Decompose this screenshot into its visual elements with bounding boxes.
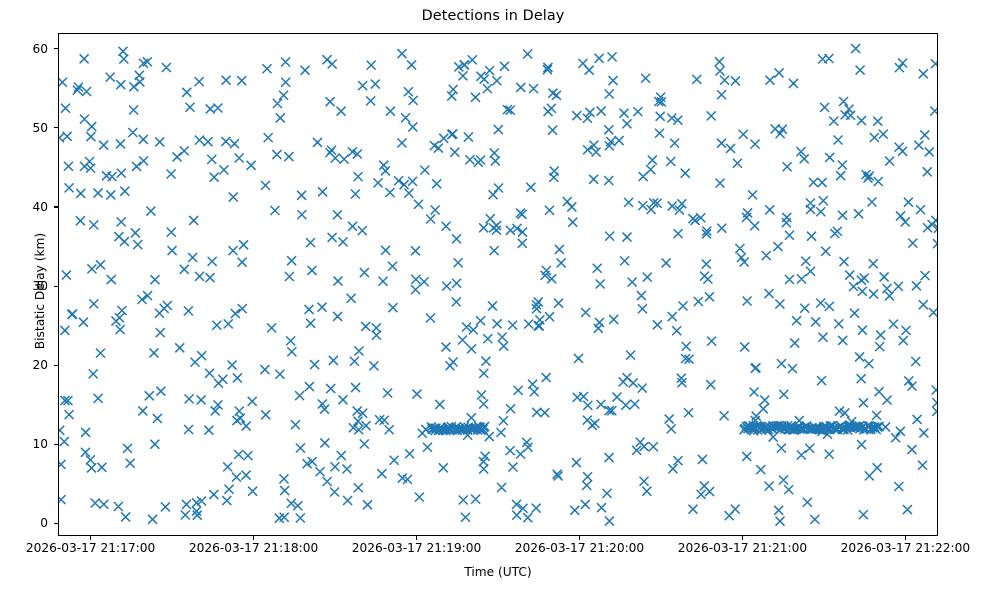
scatter-marker-group xyxy=(59,44,938,526)
y-tick-label: 0 xyxy=(0,516,48,530)
x-tick-label: 2026-03-17 21:18:00 xyxy=(189,541,318,555)
x-axis-label: Time (UTC) xyxy=(58,565,938,579)
y-tick-mark xyxy=(54,127,58,128)
x-tick-label: 2026-03-17 21:19:00 xyxy=(352,541,481,555)
x-tick-mark xyxy=(905,536,906,540)
y-tick-mark xyxy=(54,444,58,445)
y-tick-mark xyxy=(54,206,58,207)
x-tick-mark xyxy=(742,536,743,540)
x-tick-label: 2026-03-17 21:22:00 xyxy=(841,541,970,555)
x-tick-label: 2026-03-17 21:17:00 xyxy=(26,541,155,555)
scatter-series xyxy=(59,34,938,536)
x-tick-mark xyxy=(416,536,417,540)
x-tick-mark xyxy=(253,536,254,540)
y-tick-label: 50 xyxy=(0,121,48,135)
y-tick-mark xyxy=(54,365,58,366)
x-tick-mark xyxy=(90,536,91,540)
scatter-markers-path xyxy=(59,44,938,526)
y-tick-label: 60 xyxy=(0,42,48,56)
x-tick-label: 2026-03-17 21:21:00 xyxy=(678,541,807,555)
y-tick-mark xyxy=(54,523,58,524)
y-axis-label: Bistatic Delay (km) xyxy=(33,151,47,431)
chart-title: Detections in Delay xyxy=(0,8,986,24)
y-tick-label: 10 xyxy=(0,437,48,451)
x-tick-label: 2026-03-17 21:20:00 xyxy=(515,541,644,555)
y-tick-mark xyxy=(54,286,58,287)
matplotlib-figure: Detections in Delay 2026-03-17 21:17:002… xyxy=(0,0,986,590)
x-tick-mark xyxy=(579,536,580,540)
plot-area xyxy=(58,33,938,536)
y-tick-mark xyxy=(54,48,58,49)
